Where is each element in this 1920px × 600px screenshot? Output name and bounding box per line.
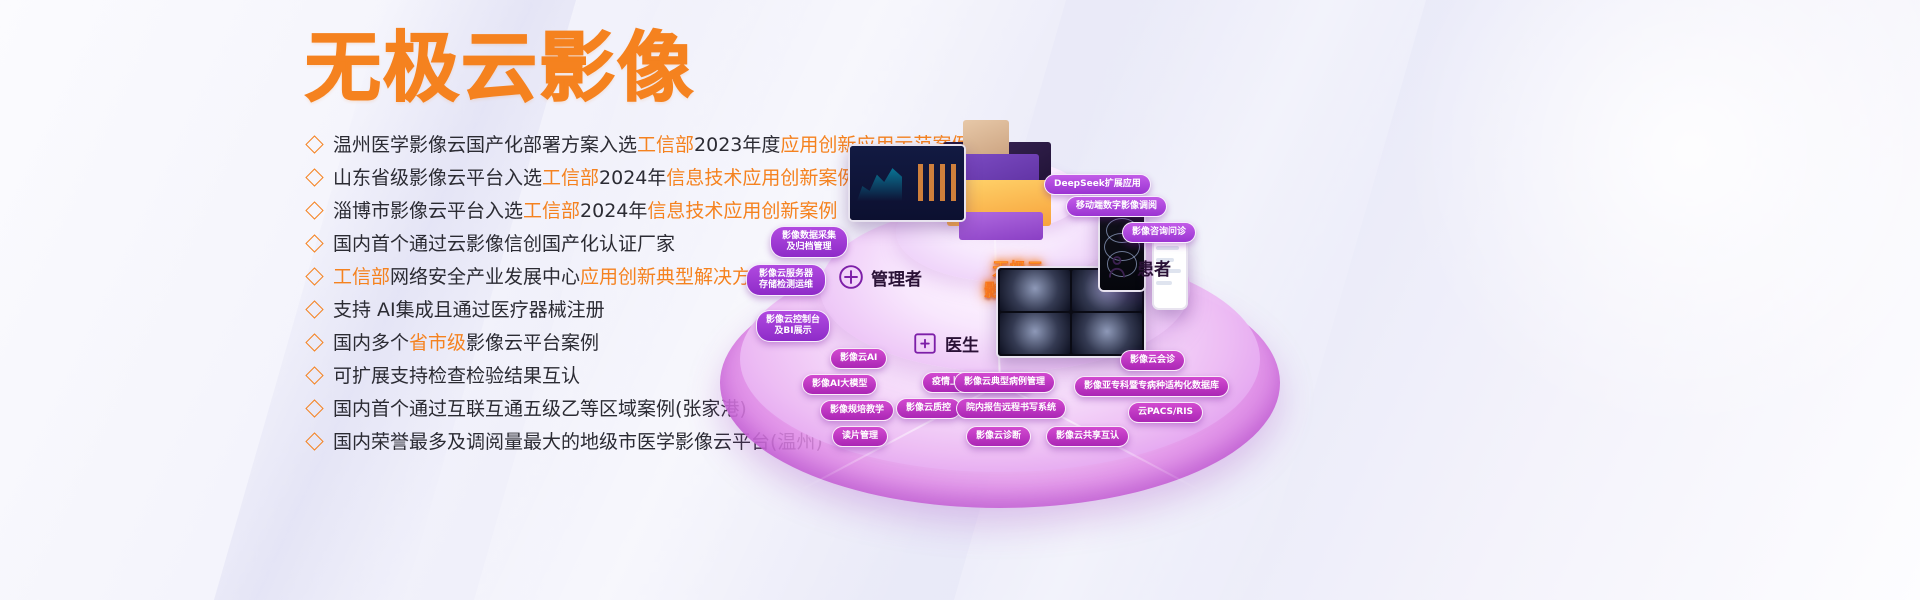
chip-rare-disease[interactable]: 影像亚专科暨专病种适构化数据库 <box>1074 376 1229 397</box>
core-block-base <box>959 212 1043 240</box>
text-run: 温州医学影像云国产化部署方案入选 <box>333 134 637 156</box>
diamond-bullet-icon <box>305 333 323 351</box>
text-run: 影像云平台案例 <box>466 332 599 354</box>
chip-read-mgmt[interactable]: 读片管理 <box>832 426 888 447</box>
chip-cloud-ai[interactable]: 影像云AI <box>830 348 887 369</box>
text-run: 省市级 <box>409 332 466 354</box>
list-item-text: 国内首个通过云影像信创国产化认证厂家 <box>333 229 675 259</box>
diamond-bullet-icon <box>305 201 323 219</box>
chip-quality[interactable]: 影像云质控 <box>896 398 961 419</box>
text-run: 工信部 <box>523 200 580 222</box>
role-patient: 患者 <box>1104 254 1171 280</box>
phone-line-1 <box>1156 246 1178 250</box>
role-label: 管理者 <box>871 265 922 290</box>
doctor-badge-icon <box>912 330 938 356</box>
plus-circle-icon <box>838 264 864 290</box>
diamond-bullet-icon <box>305 168 323 186</box>
role-label: 患者 <box>1137 255 1171 280</box>
list-item-text: 国内多个省市级影像云平台案例 <box>333 328 599 358</box>
chip-diagnosis[interactable]: 影像云诊断 <box>966 426 1031 447</box>
text-run: 山东省级影像云平台入选 <box>333 167 542 189</box>
text-run: 支持 AI集成且通过医疗器械注册 <box>333 299 605 321</box>
text-run: 可扩展支持检查检验结果互认 <box>333 365 580 387</box>
list-item-text: 可扩展支持检查检验结果互认 <box>333 361 580 391</box>
chip-remote-report[interactable]: 院内报告远程书写系统 <box>956 398 1066 419</box>
dashboard-screen <box>850 146 964 220</box>
chip-server-ops[interactable]: 影像云服务器 存储检测运维 <box>746 264 826 296</box>
text-run: 网络安全产业发展中心 <box>390 266 580 288</box>
text-run: 工信部 <box>542 167 599 189</box>
diamond-bullet-icon <box>305 267 323 285</box>
chip-data-collect[interactable]: 影像数据采集 及归档管理 <box>770 226 848 258</box>
list-item-text: 国内首个通过互联互通五级乙等区域案例(张家港) <box>333 394 747 424</box>
diamond-bullet-icon <box>305 432 323 450</box>
chip-typical-case[interactable]: 影像云典型病例管理 <box>954 372 1055 393</box>
text-run: 工信部 <box>333 266 390 288</box>
text-run: 2024年 <box>580 200 647 222</box>
person-icon <box>1104 254 1130 280</box>
diamond-bullet-icon <box>305 300 323 318</box>
text-run: 2024年 <box>599 167 666 189</box>
chip-deepseek[interactable]: DeepSeek扩展应用 <box>1044 174 1151 195</box>
list-item-text: 支持 AI集成且通过医疗器械注册 <box>333 295 605 325</box>
device-dashboard-main <box>848 144 966 222</box>
text-run: 国内多个 <box>333 332 409 354</box>
chip-ai-model[interactable]: 影像AI大模型 <box>802 374 877 395</box>
phone-line-4 <box>1156 281 1171 285</box>
diamond-bullet-icon <box>305 135 323 153</box>
page-title: 无极云影像 <box>305 25 695 111</box>
diamond-bullet-icon <box>305 366 323 384</box>
chip-console-bi[interactable]: 影像云控制台 及BI展示 <box>756 310 830 342</box>
chip-mutual[interactable]: 影像云共享互认 <box>1046 426 1129 447</box>
platform-diagram: 无极云 影像平台 管理者 <box>700 130 1300 480</box>
text-run: 国内首个通过互联互通五级乙等区域案例(张家港) <box>333 398 747 420</box>
chip-teaching[interactable]: 影像规培教学 <box>820 400 894 421</box>
role-label: 医生 <box>945 331 979 356</box>
background-glow <box>1380 0 1920 460</box>
chip-consult[interactable]: 影像咨询问诊 <box>1122 222 1196 243</box>
diamond-bullet-icon <box>305 399 323 417</box>
role-administrator: 管理者 <box>838 264 922 290</box>
text-run: 国内首个通过云影像信创国产化认证厂家 <box>333 233 675 255</box>
text-run: 工信部 <box>637 134 694 156</box>
chip-consultation[interactable]: 影像云会诊 <box>1120 350 1185 371</box>
chip-pacs-ris[interactable]: 云PACS/RIS <box>1128 402 1203 423</box>
text-run: 淄博市影像云平台入选 <box>333 200 523 222</box>
diamond-bullet-icon <box>305 234 323 252</box>
chip-mobile-query[interactable]: 移动端数字影像调阅 <box>1066 196 1167 217</box>
role-doctor: 医生 <box>912 330 979 356</box>
